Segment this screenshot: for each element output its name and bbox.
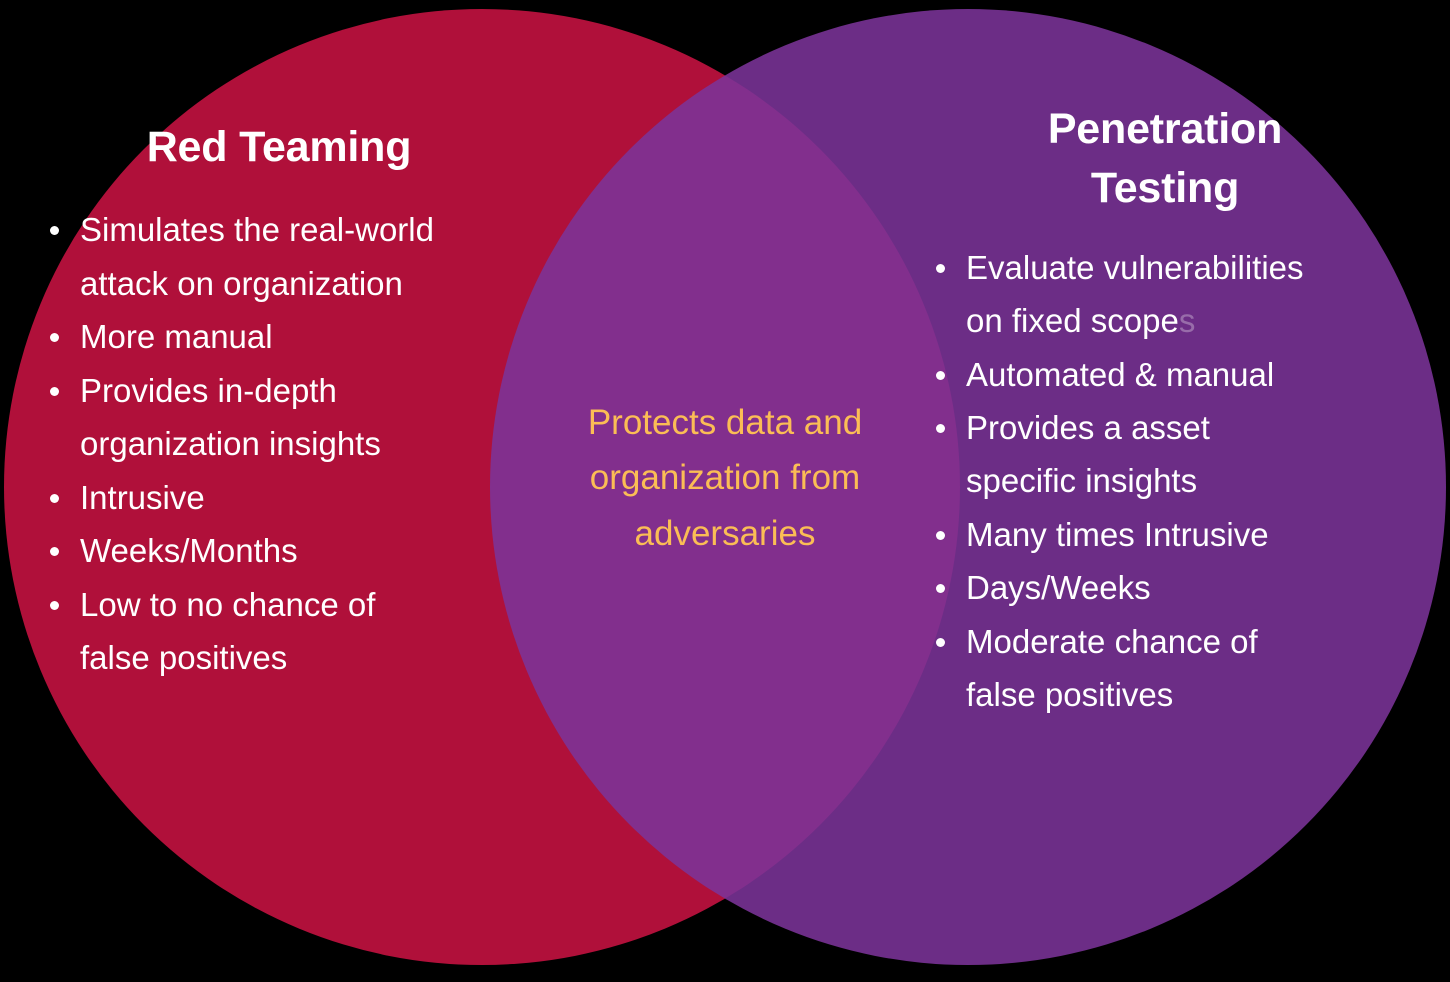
list-item-label: Intrusive xyxy=(80,479,205,516)
list-item: Moderate chance of false positives xyxy=(930,615,1400,722)
list-item-label: Simulates the real-world attack on organ… xyxy=(80,211,434,301)
penetration-testing-title: Penetration Testing xyxy=(930,100,1400,219)
list-item: Weeks/Months xyxy=(44,524,514,577)
bullet-dot-icon xyxy=(50,226,59,235)
list-item-label: Weeks/Months xyxy=(80,532,298,569)
list-item: Intrusive xyxy=(44,471,514,524)
list-item: Days/Weeks xyxy=(930,561,1400,614)
venn-overlap-label: Protects data and organization from adve… xyxy=(505,395,945,561)
list-item: Low to no chance of false positives xyxy=(44,578,514,685)
red-teaming-content: Red Teaming Simulates the real-world att… xyxy=(44,118,514,684)
list-item: Provides in-depth organization insights xyxy=(44,364,514,471)
list-item-label: Automated & manual xyxy=(966,356,1274,393)
red-teaming-bullet-list: Simulates the real-world attack on organ… xyxy=(44,203,514,684)
bullet-dot-icon xyxy=(50,547,59,556)
list-item: Provides a asset specific insights xyxy=(930,401,1400,508)
bullet-dot-icon xyxy=(50,494,59,503)
bullet-dot-icon xyxy=(50,601,59,610)
list-item: Automated & manual xyxy=(930,348,1400,401)
list-item-label: More manual xyxy=(80,318,273,355)
bullet-dot-icon xyxy=(936,584,945,593)
list-item: More manual xyxy=(44,310,514,363)
list-item-label: Days/Weeks xyxy=(966,569,1151,606)
bullet-dot-icon xyxy=(50,387,59,396)
list-item: Evaluate vulnerabilities on fixed scopes xyxy=(930,241,1400,348)
list-item: Simulates the real-world attack on organ… xyxy=(44,203,514,310)
bullet-dot-icon xyxy=(50,333,59,342)
bullet-dot-icon xyxy=(936,371,945,380)
text-overflow-artifact: s xyxy=(1179,302,1196,339)
venn-diagram: Red Teaming Simulates the real-world att… xyxy=(0,0,1450,982)
red-teaming-title: Red Teaming xyxy=(44,118,514,177)
list-item-label: Low to no chance of false positives xyxy=(80,586,375,676)
list-item-label: Moderate chance of false positives xyxy=(966,623,1258,713)
list-item-label: Provides a asset specific insights xyxy=(966,409,1210,499)
list-item-label: Evaluate vulnerabilities on fixed scope xyxy=(966,249,1304,339)
list-item-label: Many times Intrusive xyxy=(966,516,1269,553)
list-item: Many times Intrusive xyxy=(930,508,1400,561)
list-item-label: Provides in-depth organization insights xyxy=(80,372,381,462)
bullet-dot-icon xyxy=(936,638,945,647)
penetration-testing-content: Penetration Testing Evaluate vulnerabili… xyxy=(930,100,1400,722)
bullet-dot-icon xyxy=(936,264,945,273)
penetration-testing-bullet-list: Evaluate vulnerabilities on fixed scopes… xyxy=(930,241,1400,722)
